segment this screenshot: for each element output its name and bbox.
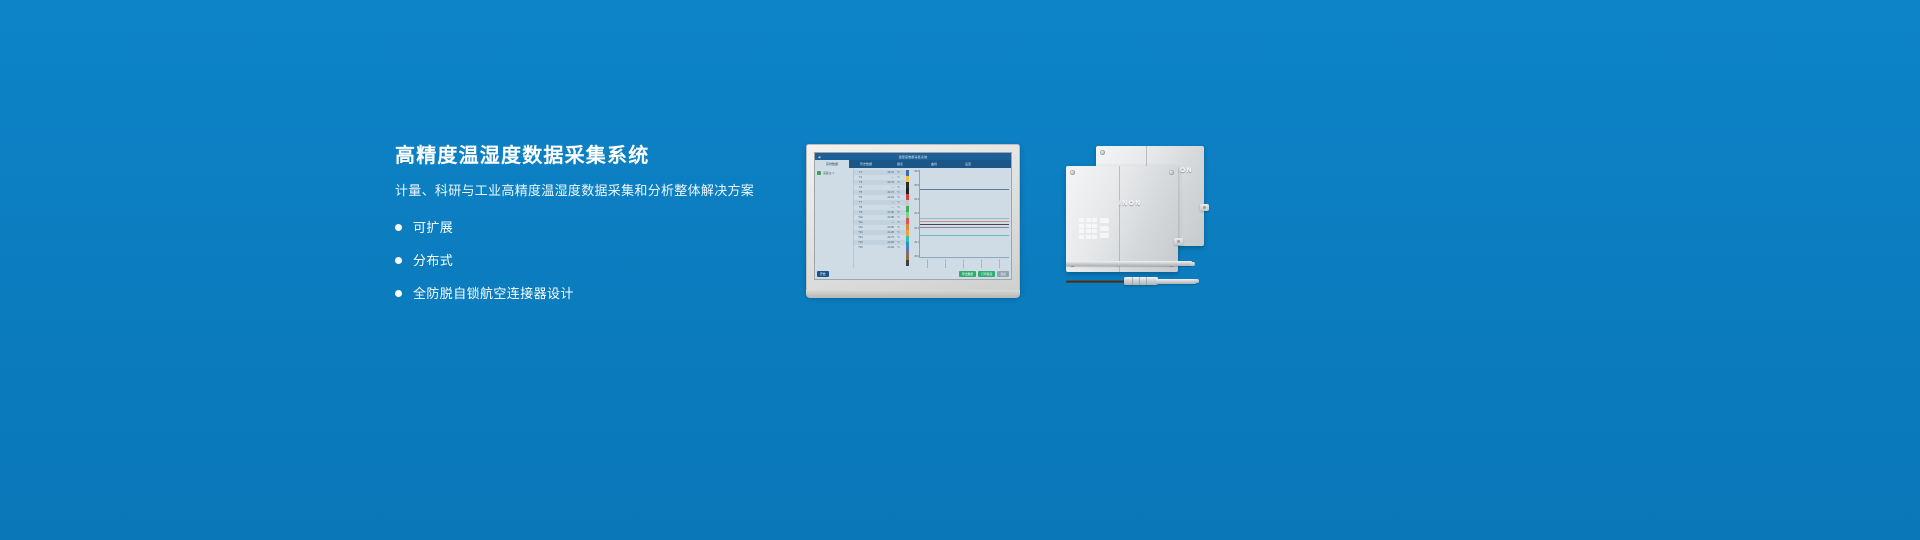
- channel-value: ---: [867, 186, 897, 189]
- app-window-title: 温湿度数据采集系统: [899, 155, 928, 159]
- feature-list: 可扩展 分布式 全防脱自锁航空连接器设计: [395, 215, 795, 306]
- feature-label: 全防脱自锁航空连接器设计: [413, 285, 574, 303]
- y-axis-tick: 25.4: [912, 198, 919, 201]
- channel-name: T9: [854, 211, 867, 214]
- trend-chart: 25.625.525.425.325.225.125.0 10:24:3210:…: [910, 168, 1011, 268]
- footer-toolbar: 开始 导出数据 打印报表 退出: [815, 269, 1011, 279]
- tab-realtime-data[interactable]: 实时数据: [815, 160, 849, 168]
- table-row[interactable]: T1624.94℃: [854, 245, 906, 250]
- status-online-icon: [817, 171, 821, 175]
- channel-unit: ℃: [897, 186, 906, 189]
- tab-report[interactable]: 报表: [883, 160, 917, 168]
- app-body: 采集仪-1 T125.01℃T2---℃T324.79℃T4---℃T524.7…: [815, 168, 1011, 268]
- channel-unit: ℃: [897, 206, 906, 209]
- exit-button[interactable]: 退出: [997, 271, 1009, 277]
- tab-label: 报表: [897, 162, 903, 166]
- tab-history-data[interactable]: 历史数据: [849, 160, 883, 168]
- monitor-bezel: ◀ 温湿度数据采集系统 实时数据 历史数据 报表 曲线: [814, 152, 1012, 280]
- channel-value: 24.88: [867, 216, 897, 219]
- y-axis-tick: 25.5: [912, 184, 919, 187]
- channel-value: 25.01: [867, 171, 897, 174]
- y-axis-tick: 25.2: [912, 227, 919, 230]
- channel-value: 24.64: [867, 196, 897, 199]
- tab-label: 设置: [965, 162, 971, 166]
- bullet-dot-icon: [395, 290, 402, 297]
- channel-unit: ℃: [897, 221, 906, 224]
- monitor-base: [806, 290, 1020, 298]
- device-tree-panel: 采集仪-1: [815, 168, 854, 268]
- channel-value: 24.90: [867, 241, 897, 244]
- channel-unit: ℃: [897, 191, 906, 194]
- tab-settings[interactable]: 设置: [951, 160, 985, 168]
- channel-name: T3: [854, 181, 867, 184]
- aviation-connector: [1124, 277, 1158, 285]
- y-axis-tick: 25.1: [912, 241, 919, 244]
- monitor-product-photo: ◀ 温湿度数据采集系统 实时数据 历史数据 报表 曲线: [806, 144, 1020, 296]
- channel-value: 24.90: [867, 226, 897, 229]
- channel-name: T12: [854, 226, 867, 229]
- x-axis-tick: 10:26:32: [999, 258, 1001, 268]
- y-axis-tick: 25.0: [912, 255, 919, 258]
- tab-label: 实时数据: [826, 162, 838, 166]
- channel-name: T15: [854, 241, 867, 244]
- start-button[interactable]: 开始: [817, 271, 829, 277]
- channel-unit: ℃: [897, 176, 906, 179]
- channel-name: T6: [854, 196, 867, 199]
- feature-label: 可扩展: [413, 219, 453, 237]
- bullet-dot-icon: [395, 257, 402, 264]
- print-report-button[interactable]: 打印报表: [978, 271, 995, 277]
- data-logger-enclosure-front: INON: [1066, 166, 1178, 272]
- connector-lug-icon: [1174, 238, 1183, 245]
- channel-name: T11: [854, 221, 867, 224]
- screw-icon: [1169, 170, 1174, 175]
- bullet-dot-icon: [395, 224, 402, 231]
- channel-value: 24.38: [867, 231, 897, 234]
- channel-unit: ℃: [897, 181, 906, 184]
- chart-series-line: [920, 189, 1009, 190]
- x-axis-tick: 10:26:02: [981, 258, 983, 268]
- y-axis-tick: 25.3: [912, 212, 919, 215]
- x-axis-tick: 10:25:32: [963, 258, 965, 268]
- feature-item-3: 全防脱自锁航空连接器设计: [395, 281, 795, 306]
- channel-unit: ℃: [897, 196, 906, 199]
- monitor-screen: ◀ 温湿度数据采集系统 实时数据 历史数据 报表 曲线: [815, 153, 1011, 279]
- channel-name: T10: [854, 216, 867, 219]
- chart-series-line: [920, 235, 1009, 236]
- banner-root: 高精度温湿度数据采集系统 计量、科研与工业高精度温湿度数据采集和分析整体解决方案…: [0, 0, 1920, 540]
- chart-plot-area: [919, 170, 1009, 258]
- channel-value: 24.90: [867, 211, 897, 214]
- feature-item-2: 分布式: [395, 248, 795, 273]
- channel-name: T1: [854, 171, 867, 174]
- series-color-legend-bar: [906, 170, 909, 266]
- tab-curve[interactable]: 曲线: [917, 160, 951, 168]
- channel-name: T5: [854, 191, 867, 194]
- chart-x-axis: 10:24:3210:25:0210:25:3210:26:0210:26:32: [919, 258, 1009, 268]
- channel-data-table: T125.01℃T2---℃T324.79℃T4---℃T524.72℃T624…: [854, 168, 906, 268]
- list-item[interactable]: 采集仪-1: [817, 171, 851, 175]
- x-axis-tick: 10:24:32: [927, 258, 929, 268]
- channel-value: 24.72: [867, 191, 897, 194]
- hardware-product-photo: INON INON: [1066, 144, 1206, 299]
- channel-value: ---: [867, 206, 897, 209]
- chart-series-line: [920, 221, 1009, 222]
- screw-icon: [1070, 170, 1075, 175]
- footer-button-group: 导出数据 打印报表 退出: [959, 271, 1009, 277]
- channel-value: ---: [867, 221, 897, 224]
- app-title-bar: ◀ 温湿度数据采集系统: [815, 153, 1011, 160]
- channel-value: ---: [867, 201, 897, 204]
- channel-value: 24.73: [867, 236, 897, 239]
- channel-value: 24.94: [867, 246, 897, 249]
- page-subtitle: 计量、科研与工业高精度温湿度数据采集和分析整体解决方案: [395, 182, 795, 200]
- terminal-emboss-pattern: [1079, 218, 1109, 239]
- channel-name: T4: [854, 186, 867, 189]
- channel-name: T8: [854, 206, 867, 209]
- page-title: 高精度温湿度数据采集系统: [395, 143, 795, 169]
- channel-name: T2: [854, 176, 867, 179]
- chart-series-line: [920, 224, 1009, 225]
- channel-name: T14: [854, 236, 867, 239]
- device-tree-label: 采集仪-1: [823, 171, 834, 175]
- channel-unit: ℃: [897, 211, 906, 214]
- channel-unit: ℃: [897, 171, 906, 174]
- channel-unit: ℃: [897, 236, 906, 239]
- banner-copy: 高精度温湿度数据采集系统 计量、科研与工业高精度温湿度数据采集和分析整体解决方案…: [395, 143, 795, 314]
- export-data-button[interactable]: 导出数据: [959, 271, 976, 277]
- chart-y-axis: 25.625.525.425.325.225.125.0: [912, 170, 919, 258]
- chart-series-line: [920, 218, 1009, 219]
- channel-name: T7: [854, 201, 867, 204]
- connector-lug-icon: [1200, 204, 1209, 211]
- tab-bar: 实时数据 历史数据 报表 曲线 设置: [815, 160, 1011, 168]
- back-arrow-icon[interactable]: ◀: [818, 155, 821, 159]
- series-color-swatch: [906, 260, 909, 266]
- feature-item-1: 可扩展: [395, 215, 795, 240]
- channel-unit: ℃: [897, 241, 906, 244]
- channel-name: T16: [854, 246, 867, 249]
- feature-label: 分布式: [413, 252, 453, 270]
- channel-value: ---: [867, 176, 897, 179]
- screw-icon: [1100, 150, 1105, 155]
- brand-logo: INON: [1119, 200, 1142, 207]
- tab-label: 历史数据: [860, 162, 872, 166]
- tab-label: 曲线: [931, 162, 937, 166]
- x-axis-tick: 10:25:02: [945, 258, 947, 268]
- channel-unit: ℃: [897, 231, 906, 234]
- channel-unit: ℃: [897, 216, 906, 219]
- y-axis-tick: 25.6: [912, 170, 919, 173]
- chart-series-line: [920, 227, 1009, 228]
- channel-unit: ℃: [897, 201, 906, 204]
- channel-name: T13: [854, 231, 867, 234]
- channel-value: 24.79: [867, 181, 897, 184]
- channel-unit: ℃: [897, 246, 906, 249]
- channel-unit: ℃: [897, 226, 906, 229]
